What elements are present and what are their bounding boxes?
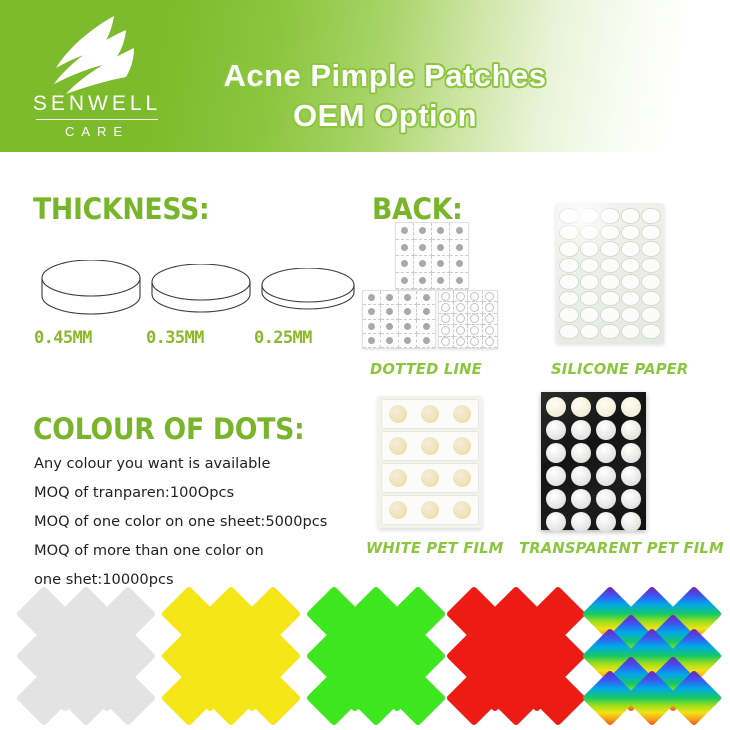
patch-cell bbox=[450, 273, 468, 290]
colour-swatch-green bbox=[312, 592, 437, 712]
patch-dot bbox=[470, 337, 479, 346]
patch-dot bbox=[571, 466, 591, 486]
patch-row bbox=[381, 495, 479, 525]
patch-cell bbox=[468, 291, 483, 302]
caption-silicone-paper: SILICONE PAPER bbox=[551, 360, 688, 378]
patch-dot bbox=[423, 308, 430, 315]
patch-cell bbox=[450, 240, 468, 257]
patch-dot bbox=[386, 337, 393, 344]
patch-cell bbox=[363, 305, 381, 319]
patch-cell bbox=[414, 273, 432, 290]
heading-thickness: THICKNESS: bbox=[33, 192, 209, 226]
patch-cell bbox=[432, 256, 450, 273]
patch-dot bbox=[571, 443, 591, 463]
silicone-dot bbox=[600, 324, 620, 340]
patch-dot bbox=[621, 443, 641, 463]
patch-cell bbox=[417, 320, 435, 334]
colour-line-4: MOQ of more than one color on bbox=[34, 542, 364, 559]
patch-cell bbox=[483, 314, 498, 325]
transparent-pet-film-photo bbox=[541, 392, 646, 530]
patch-dot bbox=[453, 405, 471, 423]
patch-cell bbox=[417, 334, 435, 348]
silicone-dot bbox=[559, 307, 579, 323]
silicone-dot bbox=[641, 225, 661, 241]
silicone-dot bbox=[621, 274, 641, 290]
silicone-dot bbox=[621, 307, 641, 323]
patch-dot bbox=[386, 294, 393, 301]
patch-dot bbox=[453, 501, 471, 519]
patch-cell bbox=[439, 325, 454, 336]
patch-dot bbox=[419, 227, 426, 234]
patch-dot bbox=[596, 466, 616, 486]
patch-cell bbox=[454, 325, 469, 336]
silicone-paper-photo bbox=[556, 203, 664, 343]
patch-dot bbox=[389, 501, 407, 519]
patch-cell bbox=[468, 302, 483, 313]
patch-dot bbox=[470, 326, 479, 335]
patch-cell bbox=[399, 334, 417, 348]
silicone-dot bbox=[580, 324, 600, 340]
colour-swatch-clear-grey bbox=[22, 592, 147, 712]
thickness-disc-group bbox=[30, 258, 360, 328]
patch-dot bbox=[401, 277, 408, 284]
patch-dot bbox=[404, 337, 411, 344]
colour-line-2: MOQ of tranparen:100Opcs bbox=[34, 484, 364, 501]
patch-row bbox=[381, 431, 479, 461]
patch-cell bbox=[363, 334, 381, 348]
patch-dot bbox=[441, 326, 450, 335]
patch-dot bbox=[404, 308, 411, 315]
banner-title-group: Acne Pimple Patches OEM Option bbox=[175, 56, 595, 136]
silicone-dot bbox=[580, 274, 600, 290]
patch-cell bbox=[396, 240, 414, 257]
patch-dot bbox=[389, 437, 407, 455]
patch-cell bbox=[363, 291, 381, 305]
header-banner: SENWELL CARE Acne Pimple Patches OEM Opt… bbox=[0, 0, 730, 152]
patch-dot bbox=[456, 227, 463, 234]
patch-dot bbox=[546, 420, 566, 440]
colour-line-5: one shet:10000pcs bbox=[34, 571, 364, 588]
heading-colour-of-dots: COLOUR OF DOTS: bbox=[33, 412, 304, 446]
patch-dot bbox=[453, 469, 471, 487]
photo-gloss-highlight bbox=[556, 203, 621, 255]
caption-white-pet-film: WHITE PET FILM bbox=[366, 539, 504, 557]
patch-dot bbox=[441, 292, 450, 301]
patch-dot bbox=[571, 489, 591, 509]
logo-subtitle: CARE bbox=[22, 124, 172, 139]
patch-cell bbox=[381, 320, 399, 334]
patch-dot bbox=[389, 469, 407, 487]
patch-dot bbox=[546, 512, 566, 532]
patch-sheet-bottom-left bbox=[362, 290, 436, 349]
patch-dot bbox=[423, 294, 430, 301]
patch-cell bbox=[454, 314, 469, 325]
caption-transparent-pet-film: TRANSPARENT PET FILM bbox=[519, 539, 724, 557]
patch-dot bbox=[419, 277, 426, 284]
patch-cell bbox=[483, 291, 498, 302]
patch-cell bbox=[381, 291, 399, 305]
silicone-dot bbox=[559, 291, 579, 307]
banner-title-line2: OEM Option bbox=[175, 96, 595, 136]
disc-035mm bbox=[148, 264, 254, 320]
silicone-dot bbox=[641, 258, 661, 274]
patch-dot bbox=[485, 292, 494, 301]
patch-dot bbox=[485, 337, 494, 346]
silicone-dot bbox=[641, 208, 661, 224]
patch-cell bbox=[450, 256, 468, 273]
patch-cell bbox=[417, 305, 435, 319]
leaf-flame-logo-icon bbox=[22, 14, 172, 94]
colour-line-1: Any colour you want is available bbox=[34, 455, 364, 472]
silicone-dot bbox=[621, 208, 641, 224]
silicone-dot bbox=[621, 291, 641, 307]
patch-cell bbox=[417, 291, 435, 305]
silicone-dot bbox=[621, 324, 641, 340]
patch-dot bbox=[596, 420, 616, 440]
patch-dot bbox=[485, 326, 494, 335]
patch-dot bbox=[437, 227, 444, 234]
silicone-dot bbox=[641, 324, 661, 340]
silicone-dot bbox=[621, 225, 641, 241]
patch-dot bbox=[456, 277, 463, 284]
patch-dot bbox=[456, 314, 465, 323]
patch-cell bbox=[414, 240, 432, 257]
colour-description-text: Any colour you want is available MOQ of … bbox=[34, 455, 364, 600]
patch-dot bbox=[571, 512, 591, 532]
patch-dot bbox=[456, 244, 463, 251]
silicone-dot bbox=[600, 307, 620, 323]
disc-045mm bbox=[38, 260, 144, 322]
patch-dot bbox=[571, 397, 591, 417]
infographic-page: SENWELL CARE Acne Pimple Patches OEM Opt… bbox=[0, 0, 730, 730]
colour-swatch-red bbox=[452, 592, 577, 712]
patch-dot bbox=[389, 405, 407, 423]
patch-dot bbox=[470, 292, 479, 301]
patch-cell bbox=[396, 256, 414, 273]
thickness-label-025: 0.25MM bbox=[254, 328, 312, 348]
silicone-dot bbox=[580, 291, 600, 307]
patch-dot bbox=[404, 323, 411, 330]
patch-dot bbox=[546, 397, 566, 417]
patch-dot bbox=[404, 294, 411, 301]
patch-dot bbox=[437, 260, 444, 267]
patch-dot bbox=[421, 501, 439, 519]
patch-dot bbox=[401, 227, 408, 234]
silicone-dot bbox=[600, 258, 620, 274]
patch-dot bbox=[421, 405, 439, 423]
patch-cell bbox=[439, 302, 454, 313]
caption-dotted-line: DOTTED LINE bbox=[370, 360, 482, 378]
patch-dot bbox=[421, 469, 439, 487]
patch-dot bbox=[470, 314, 479, 323]
thickness-label-group: 0.45MM 0.35MM 0.25MM bbox=[30, 328, 360, 354]
patch-row bbox=[381, 399, 479, 429]
silicone-dot bbox=[641, 274, 661, 290]
patch-cell bbox=[468, 314, 483, 325]
patch-cell bbox=[439, 314, 454, 325]
colour-swatch-yellow bbox=[167, 592, 292, 712]
silicone-dot bbox=[641, 291, 661, 307]
patch-dot bbox=[596, 443, 616, 463]
logo-wordmark: SENWELL bbox=[22, 92, 172, 116]
disc-025mm bbox=[258, 268, 358, 318]
patch-cell bbox=[399, 320, 417, 334]
patch-cell bbox=[399, 291, 417, 305]
patch-dot bbox=[546, 443, 566, 463]
patch-dot bbox=[621, 512, 641, 532]
patch-dot bbox=[596, 512, 616, 532]
patch-dot bbox=[571, 420, 591, 440]
silicone-dot bbox=[559, 274, 579, 290]
colour-line-3: MOQ of one color on one sheet:5000pcs bbox=[34, 513, 364, 530]
patch-cell bbox=[414, 256, 432, 273]
patch-dot bbox=[386, 323, 393, 330]
silicone-dot bbox=[580, 258, 600, 274]
patch-cell bbox=[396, 223, 414, 240]
patch-dot bbox=[421, 437, 439, 455]
heading-back: BACK: bbox=[372, 192, 463, 226]
patch-cell bbox=[363, 320, 381, 334]
colour-swatch-rainbow bbox=[588, 592, 713, 712]
patch-dot bbox=[485, 303, 494, 312]
patch-dot bbox=[441, 314, 450, 323]
patch-cell bbox=[399, 305, 417, 319]
patch-dot bbox=[621, 466, 641, 486]
patch-cell bbox=[468, 325, 483, 336]
patch-dot bbox=[456, 292, 465, 301]
patch-dot bbox=[546, 489, 566, 509]
silicone-dot bbox=[641, 241, 661, 257]
patch-dot bbox=[368, 337, 375, 344]
patch-cell bbox=[450, 223, 468, 240]
silicone-dot bbox=[559, 258, 579, 274]
patch-cell bbox=[468, 337, 483, 348]
patch-dot bbox=[621, 420, 641, 440]
patch-dot bbox=[437, 244, 444, 251]
patch-dot bbox=[419, 244, 426, 251]
patch-dot bbox=[453, 437, 471, 455]
patch-cell bbox=[439, 337, 454, 348]
patch-row bbox=[381, 463, 479, 493]
patch-cell bbox=[454, 291, 469, 302]
brand-logo: SENWELL CARE bbox=[22, 14, 172, 142]
patch-dot bbox=[386, 308, 393, 315]
patch-dot bbox=[456, 303, 465, 312]
patch-dot bbox=[456, 326, 465, 335]
silicone-dot bbox=[621, 241, 641, 257]
silicone-dot bbox=[559, 324, 579, 340]
silicone-dot bbox=[621, 258, 641, 274]
white-pet-film-photo bbox=[378, 396, 482, 528]
thickness-label-035: 0.35MM bbox=[146, 328, 204, 348]
dotted-line-sheets bbox=[362, 222, 502, 347]
patch-dot bbox=[456, 260, 463, 267]
patch-cell bbox=[483, 302, 498, 313]
patch-cell bbox=[432, 273, 450, 290]
patch-dot bbox=[419, 260, 426, 267]
patch-dot bbox=[401, 260, 408, 267]
patch-cell bbox=[454, 337, 469, 348]
patch-dot bbox=[423, 323, 430, 330]
patch-dot bbox=[368, 308, 375, 315]
logo-divider bbox=[36, 119, 158, 120]
patch-cell bbox=[396, 273, 414, 290]
patch-dot bbox=[401, 244, 408, 251]
patch-dot bbox=[441, 337, 450, 346]
patch-dot bbox=[368, 323, 375, 330]
silicone-dot bbox=[641, 307, 661, 323]
silicone-dot bbox=[600, 291, 620, 307]
patch-cell bbox=[454, 302, 469, 313]
patch-dot bbox=[621, 489, 641, 509]
patch-cell bbox=[414, 223, 432, 240]
patch-dot bbox=[485, 314, 494, 323]
patch-dot bbox=[546, 466, 566, 486]
patch-cell bbox=[439, 291, 454, 302]
patch-dot bbox=[596, 397, 616, 417]
silicone-dot bbox=[600, 274, 620, 290]
patch-dot bbox=[621, 397, 641, 417]
patch-dot bbox=[596, 489, 616, 509]
patch-dot bbox=[437, 277, 444, 284]
patch-dot bbox=[470, 303, 479, 312]
patch-dot bbox=[456, 337, 465, 346]
banner-title-line1: Acne Pimple Patches bbox=[175, 56, 595, 96]
patch-cell bbox=[483, 337, 498, 348]
thickness-label-045: 0.45MM bbox=[34, 328, 92, 348]
patch-cell bbox=[381, 305, 399, 319]
patch-sheet-top bbox=[395, 222, 469, 290]
patch-cell bbox=[432, 240, 450, 257]
patch-sheet-bottom-right bbox=[438, 290, 498, 349]
patch-cell bbox=[432, 223, 450, 240]
silicone-dot bbox=[580, 307, 600, 323]
patch-cell bbox=[381, 334, 399, 348]
patch-cell bbox=[483, 325, 498, 336]
patch-dot bbox=[441, 303, 450, 312]
patch-dot bbox=[423, 337, 430, 344]
patch-dot bbox=[368, 294, 375, 301]
